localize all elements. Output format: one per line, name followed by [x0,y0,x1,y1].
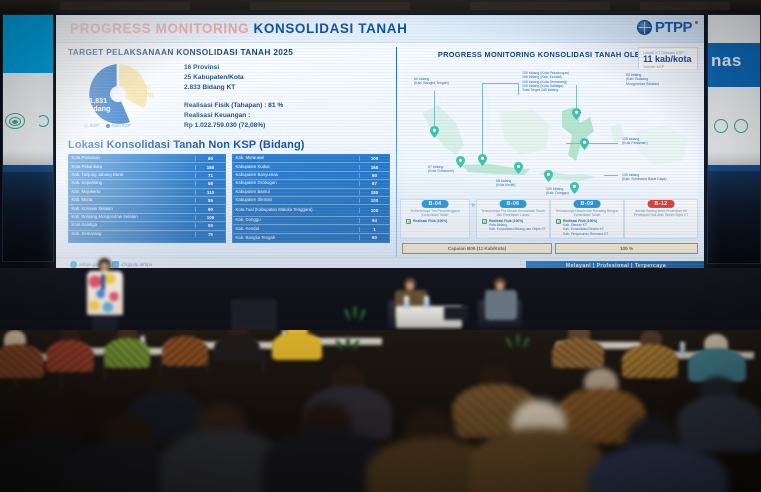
table-cell-value: 60 [195,156,225,161]
target-facts: 16 Provinsi 25 Kabupaten/Kota 2.833 Bida… [184,61,390,133]
table-cell-name: Kabupaten Grobogan [233,181,359,186]
check-icon [556,219,561,224]
summary-label: Capaian B09 (11 Kab/Kota) [402,243,552,254]
map-callout: 57 bidang(Kota Sukabumi) [428,165,454,174]
map-callout: 100 bidang (Kota Pekalongan)165 bidang (… [522,71,569,92]
table-cell-value: 60 [359,173,389,178]
summary-bar: Capaian B09 (11 Kab/Kota) 100 % [402,243,698,254]
table-cell-value: 58 [195,181,225,186]
realisasi-keuangan-value: Rp 1.022.759.030 (72,08%) [184,121,390,131]
timeline-stage: B-09Tersusunnya Desain dan Rancang Bangu… [550,199,624,239]
table-row: Kabupaten Kudus165 [233,163,389,171]
indonesia-map: 60 bidang(Kab. Bangka Tengah)100 bidang … [404,69,698,199]
slide-header: PROGRESS MONITORING KONSOLIDASI TANAH PT… [56,15,705,43]
timeline: B-04Terbentuknya Tim Penyelenggara Konso… [402,199,698,239]
map-pin [456,155,465,167]
table-cell-value: 1 [359,227,389,232]
fact-bidang: 2.833 Bidang KT [184,83,390,93]
panel-laptop [444,306,468,320]
table-cell-name: Kota Salatiga [69,223,195,228]
table-cell-value: 100 [359,198,389,203]
timeline-badge: B-12 [648,200,675,208]
table-cell-value: 50 [195,223,225,228]
map-callout: 80 bidang(Kab. BolaangMongondow Selatan) [626,73,659,86]
timeline-badge: B-06 [500,200,527,208]
map-callout: 58 bidang(Kota Kediri) [496,179,515,188]
map-pin [544,169,553,181]
realisasi-fisik: Realisasi Fisik (Tahapan) : 81 % [184,101,390,111]
fact-kabupaten: 25 Kabupaten/Kota [184,73,390,83]
table-row: Kab. Kendal1 [233,225,389,233]
table-row: Kab. Tanjung Jabung Barat71 [69,172,225,180]
map-pin [430,125,439,137]
check-icon [406,219,411,224]
globe-icon [637,20,652,35]
map-callout: 100 bidang(Kab. Donggu) [546,187,569,196]
table-cell-name: Kabupaten Bantul [233,190,359,195]
kpi-value: 11 kab/kota [643,55,693,65]
table-row: Kota Salatiga50 [69,222,225,230]
donut-legend: KSP Non KSP [84,123,131,128]
timeline-description: Tersusunnya Desain dan Rancang Bangun Ko… [553,209,621,217]
table-row: Kabupaten Bantul180 [233,189,389,197]
left-panel: TARGET PELAKSANAAN KONSOLIDASI TANAH 202… [68,47,390,243]
table-row: Kota Pariaman60 [69,155,225,163]
table-row: Kota Pekanbaru150 [69,163,225,171]
map-callout: 105 bidang(Kota Pariaman) [622,137,647,146]
slide-title-part1: PROGRESS MONITORING [70,21,254,36]
table-cell-name: Kab. Kendal [233,227,359,232]
table-cell-name: Kab. Muna [69,198,195,203]
table-cell-value: 150 [195,165,225,170]
logo-text: PTPP [655,19,692,36]
timeline-realisasi-chip: Realisasi Fisik (100%)Kab. Sleman KTKab.… [553,219,621,236]
table-row: Kab. Mojokerto110 [69,189,225,197]
table-cell-value: 85 [195,198,225,203]
realisasi-keuangan-label: Realisasi Keuangan : [184,111,390,121]
audience [0,330,761,492]
speaker-at-podium [84,258,126,320]
target-section-title: TARGET PELAKSANAAN KONSOLIDASI TANAH 202… [68,47,390,57]
lokasi-table-title: Lokasi Konsolidasi Tanah Non KSP (Bidang… [68,139,390,151]
table-cell-value: 100 [195,215,225,220]
lokasi-table-right: Kab. Merauwei100Kabupaten Kudus165Kabupa… [232,154,390,243]
map-pin [580,137,589,149]
table-cell-value: 87 [359,181,389,186]
table-cell-value: 71 [195,173,225,178]
table-cell-value: 110 [195,190,225,195]
table-row: Kab. Muna85 [69,197,225,205]
check-icon [482,219,487,224]
right-panel: PROGRESS MONITORING KONSOLIDASI TANAH OL… [404,47,698,257]
lokasi-tables: Kota Pariaman60Kota Pekanbaru150Kab. Tan… [68,154,390,243]
map-pin [570,181,579,193]
timeline-description: Terbentuknya Tim Penyelenggara Konsolida… [403,209,467,217]
stage-plant [346,306,364,322]
table-row: Kab. Bolaang Mongondow Selatan100 [69,214,225,222]
timeline-badge: B-04 [422,200,449,208]
donut-primary-label: 1,831 Bidang [86,97,110,112]
legend-item-ksp: KSP [84,123,99,128]
table-cell-name: Kab. Bolaang Mongondow Selatan [69,215,195,220]
map-pin [514,161,523,173]
table-cell-value: 105 [359,208,389,213]
table-cell-name: Kab. Merauwei [233,156,359,161]
table-row: Kab. Kepahiang58 [69,180,225,188]
globe-small-icon [70,261,77,268]
table-cell-name: Kab. Tanjung Jabung Barat [69,173,195,178]
panel-divider [396,47,397,257]
timeline-realisasi-chip: Realisasi Fisik (100%) [403,219,467,224]
table-cell-value: 90 [195,207,225,212]
main-projection-screen: PROGRESS MONITORING KONSOLIDASI TANAH PT… [55,14,705,270]
table-cell-name: Kota Pariaman [69,156,195,161]
fact-provinsi: 16 Provinsi [184,63,390,73]
table-cell-value: 75 [195,232,225,237]
timeline-realisasi-chip: Realisasi Fisik (100%)Peta BidangKab. Ko… [479,219,547,232]
map-pin [478,153,487,165]
table-row: Kabupaten Sleman100 [233,197,389,205]
timeline-stage: B-06Tersusunnya Pra Desain Konsolidasi T… [476,199,550,239]
table-cell-name: Kab. Semarang [69,232,195,237]
timeline-chip-text: Realisasi Fisik (100%) [413,219,447,223]
timeline-stage: B-04Terbentuknya Tim Penyelenggara Konso… [400,199,470,239]
table-cell-name: Kab. Bangka Tengah [233,236,359,241]
table-row: Kab. Semarang75 [69,231,225,239]
table-cell-name: Kab. Konawe Selatan [69,207,195,212]
donut-secondary-unit: Bidang [132,92,154,99]
slide-title: PROGRESS MONITORING KONSOLIDASI TANAH [70,20,407,38]
table-cell-value: 100 [359,156,389,161]
panelist-right [484,278,518,322]
table-cell-value: 94 [359,218,389,223]
side-screen-right: nas [707,14,761,264]
donut-primary-unit: Bidang [86,105,110,113]
table-row: Kabupaten Grobogan87 [233,180,389,188]
table-row: Kabupaten Banyumas60 [233,172,389,180]
table-cell-name: Kota Tual (Kabupaten Maluku Tenggara) [233,208,359,213]
donut-secondary-label: 1,002 Bidang [132,85,154,98]
table-cell-value: 165 [359,165,389,170]
lokasi-table-left: Kota Pariaman60Kota Pekanbaru150Kab. Tan… [68,154,226,243]
stage-monitor [232,300,276,330]
side-screen-left [2,14,54,262]
map-callout: 60 bidang(Kab. Bangka Tengah) [414,77,449,86]
table-cell-name: Kab. Donggu [233,218,359,223]
timeline-stage: B-12Jumlah Bidang terbit Penerbitan SK P… [624,199,698,239]
conference-room-photo: nas PROGRESS MONITORING KONSOLIDASI TANA… [0,0,761,492]
legend-item-nonksp: Non KSP [106,123,131,128]
summary-value: 100 % [555,243,698,254]
table-row: Kab. Donggu94 [233,217,389,225]
presentation-slide: PROGRESS MONITORING KONSOLIDASI TANAH PT… [56,15,705,270]
table-cell-name: Kab. Kepahiang [69,181,195,186]
slide-title-part2: KONSOLIDASI TANAH [254,21,408,36]
logo-dot [695,21,698,24]
timeline-chip-text: Realisasi Fisik (100%)Peta BidangKab. Ko… [489,219,546,232]
table-row: Kota Tual (Kabupaten Maluku Tenggara)105 [233,205,389,217]
table-cell-name: Kota Pekanbaru [69,165,195,170]
map-pin [572,107,581,119]
table-cell-name: Kab. Mojokerto [69,190,195,195]
donut-chart: 1,831 Bidang 1,002 Bidang KSP [68,61,176,133]
table-row: Kab. Merauwei100 [233,155,389,163]
table-row: Kab. Konawe Selatan90 [69,205,225,213]
map-callout: 100 bidang(Kab. Sumbawa Barat Daya) [622,173,667,182]
ptpp-logo: PTPP [637,19,698,36]
timeline-description: Jumlah Bidang terbit Penerbitan SK Penet… [627,209,695,217]
table-row: Kab. Bangka Tengah60 [233,234,389,242]
table-cell-value: 180 [359,190,389,195]
table-cell-name: Kabupaten Kudus [233,165,359,170]
timeline-description: Tersusunnya Pra Desain Konsolidasi Tanah… [479,209,547,217]
table-cell-name: Kabupaten Sleman [233,198,359,203]
timeline-badge: B-09 [574,200,601,208]
table-cell-name: Kabupaten Banyumas [233,173,359,178]
table-cell-value: 60 [359,235,389,240]
timeline-chip-text: Realisasi Fisik (100%)Kab. Sleman KTKab.… [563,219,608,236]
